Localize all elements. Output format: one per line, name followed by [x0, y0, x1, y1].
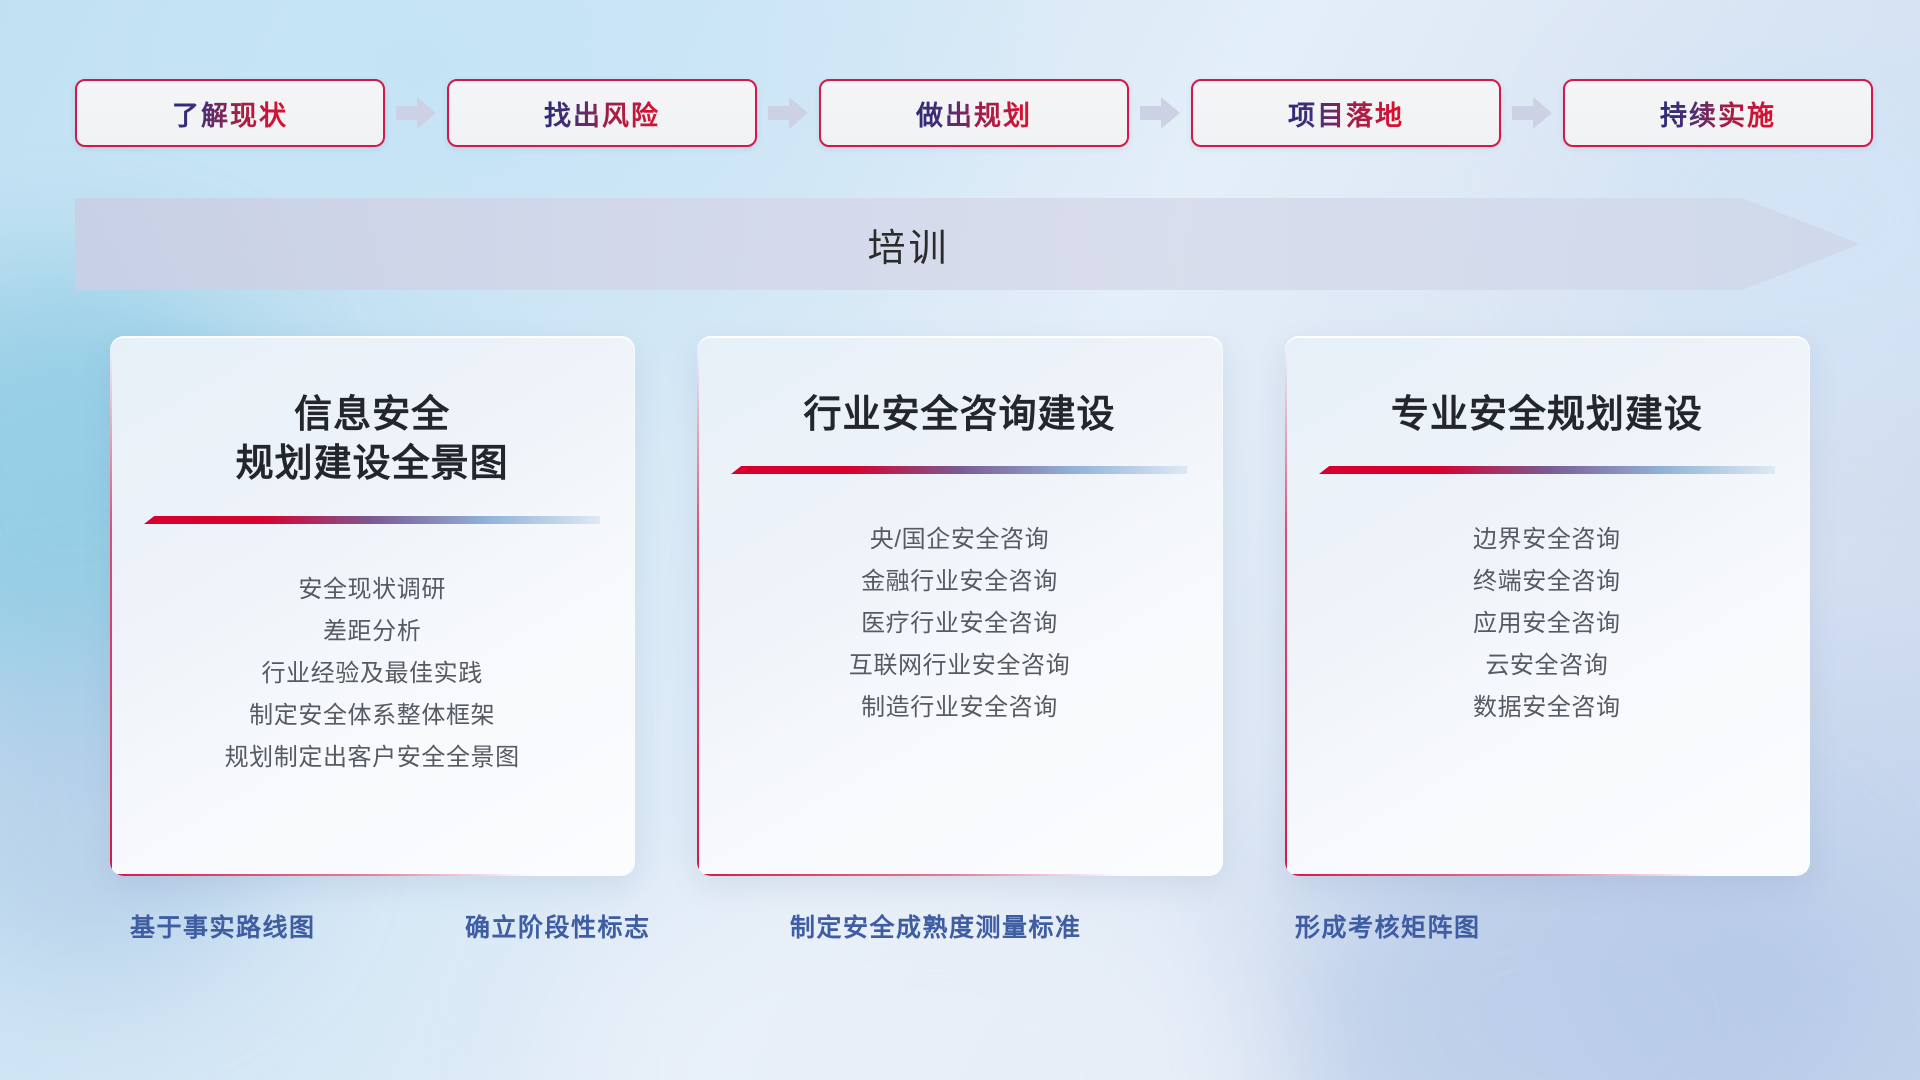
caption-row: 基于事实路线图确立阶段性标志制定安全成熟度测量标准形成考核矩阵图 — [0, 908, 1920, 960]
list-item: 金融行业安全咨询 — [715, 561, 1203, 603]
service-card-2[interactable]: 行业安全咨询建设央/国企安全咨询金融行业安全咨询医疗行业安全咨询互联网行业安全咨… — [697, 336, 1222, 876]
step-chip-label: 找出风险 — [544, 94, 660, 133]
card-item-list: 央/国企安全咨询金融行业安全咨询医疗行业安全咨询互联网行业安全咨询制造行业安全咨… — [715, 519, 1203, 729]
step-chip-4[interactable]: 项目落地 — [1191, 79, 1501, 147]
list-item: 终端安全咨询 — [1303, 561, 1791, 603]
caption-label-2: 确立阶段性标志 — [465, 908, 651, 944]
banner-title: 培训 — [75, 198, 1742, 290]
caption-label-1: 基于事实路线图 — [130, 908, 316, 944]
card-title: 行业安全咨询建设 — [723, 391, 1195, 440]
list-item: 云安全咨询 — [1303, 645, 1791, 687]
process-step-row: 了解现状找出风险做出规划项目落地持续实施 — [75, 78, 1865, 148]
list-item: 边界安全咨询 — [1303, 519, 1791, 561]
list-item: 差距分析 — [128, 611, 616, 653]
step-separator-arrow — [757, 91, 819, 135]
slide-canvas: 了解现状找出风险做出规划项目落地持续实施 培训 信息安全 规划建设全景图安全现状… — [0, 0, 1920, 1080]
arrow-right-icon — [1512, 97, 1552, 129]
list-item: 数据安全咨询 — [1303, 687, 1791, 729]
step-chip-2[interactable]: 找出风险 — [447, 79, 757, 147]
step-separator-arrow — [1129, 91, 1191, 135]
accent-bar-shape — [731, 466, 1187, 479]
step-chip-1[interactable]: 了解现状 — [75, 79, 385, 147]
service-card-1[interactable]: 信息安全 规划建设全景图安全现状调研差距分析行业经验及最佳实践制定安全体系整体框… — [110, 336, 635, 876]
list-item: 应用安全咨询 — [1303, 603, 1791, 645]
step-separator-arrow — [385, 91, 447, 135]
step-chip-label: 持续实施 — [1660, 94, 1776, 133]
list-item: 安全现状调研 — [128, 569, 616, 611]
card-title: 专业安全规划建设 — [1311, 391, 1783, 440]
arrow-right-icon — [396, 97, 436, 129]
list-item: 规划制定出客户安全全景图 — [128, 737, 616, 779]
accent-bar-shape — [1319, 466, 1775, 479]
list-item: 医疗行业安全咨询 — [715, 603, 1203, 645]
list-item: 制定安全体系整体框架 — [128, 695, 616, 737]
step-chip-label: 做出规划 — [916, 94, 1032, 133]
training-banner: 培训 — [75, 198, 1860, 290]
card-item-list: 安全现状调研差距分析行业经验及最佳实践制定安全体系整体框架规划制定出客户安全全景… — [128, 569, 616, 779]
step-chip-label: 项目落地 — [1288, 94, 1404, 133]
step-chip-3[interactable]: 做出规划 — [819, 79, 1129, 147]
caption-label-3: 制定安全成熟度测量标准 — [790, 908, 1082, 944]
step-chip-5[interactable]: 持续实施 — [1563, 79, 1873, 147]
list-item: 互联网行业安全咨询 — [715, 645, 1203, 687]
card-accent-bar — [1319, 466, 1775, 479]
list-item: 制造行业安全咨询 — [715, 687, 1203, 729]
step-separator-arrow — [1501, 91, 1563, 135]
card-accent-bar — [731, 466, 1187, 479]
arrow-right-icon — [1140, 97, 1180, 129]
card-title: 信息安全 规划建设全景图 — [136, 391, 608, 490]
card-accent-bar — [144, 516, 600, 529]
arrow-right-icon — [768, 97, 808, 129]
caption-label-4: 形成考核矩阵图 — [1295, 908, 1481, 944]
service-card-3[interactable]: 专业安全规划建设边界安全咨询终端安全咨询应用安全咨询云安全咨询数据安全咨询 — [1285, 336, 1810, 876]
list-item: 央/国企安全咨询 — [715, 519, 1203, 561]
list-item: 行业经验及最佳实践 — [128, 653, 616, 695]
card-row: 信息安全 规划建设全景图安全现状调研差距分析行业经验及最佳实践制定安全体系整体框… — [110, 336, 1810, 876]
background-blob — [560, 860, 1260, 1080]
accent-bar-shape — [144, 516, 600, 529]
step-chip-label: 了解现状 — [172, 94, 288, 133]
card-item-list: 边界安全咨询终端安全咨询应用安全咨询云安全咨询数据安全咨询 — [1303, 519, 1791, 729]
